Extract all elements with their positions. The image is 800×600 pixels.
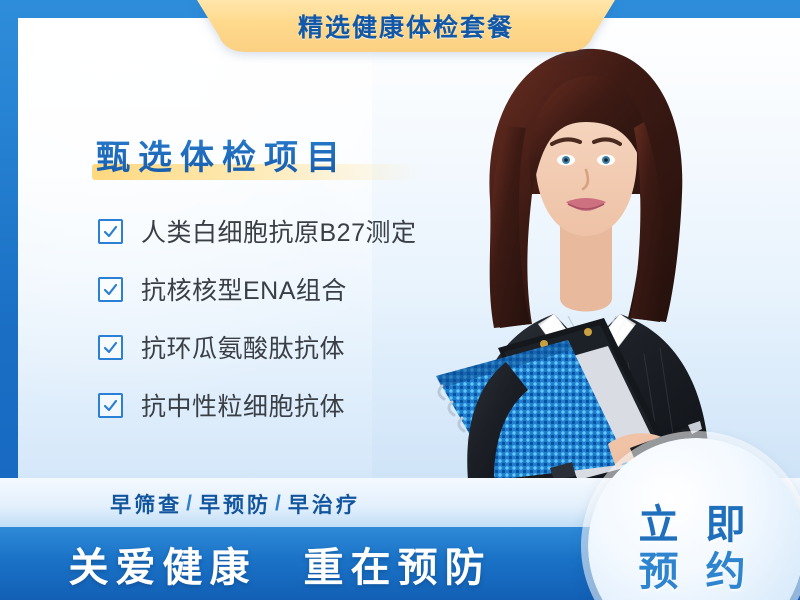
list-item[interactable]: 抗中性粒细胞抗体: [98, 386, 416, 424]
list-item-label: 抗环瓜氨酸肽抗体: [141, 329, 345, 365]
checkbox-checked-icon[interactable]: [98, 393, 123, 418]
checkbox-checked-icon[interactable]: [98, 277, 123, 302]
list-item[interactable]: 抗环瓜氨酸肽抗体: [98, 328, 416, 366]
checkbox-checked-icon[interactable]: [98, 219, 123, 244]
list-item[interactable]: 人类白细胞抗原B27测定: [98, 212, 416, 250]
cta-line-1: 立 即: [638, 502, 753, 549]
list-item[interactable]: 抗核核型ENA组合: [98, 270, 416, 308]
checkbox-checked-icon[interactable]: [98, 335, 123, 360]
slogan-text: 关爱健康 重在预防: [0, 527, 560, 600]
benefit-3: 早治疗: [288, 489, 360, 519]
page-title: 甄选体检项目: [96, 130, 348, 179]
heading-block: 甄选体检项目: [96, 130, 348, 179]
list-item-label: 人类白细胞抗原B27测定: [141, 213, 416, 249]
promo-banner: 精选健康体检套餐 甄选体检项目 人类白细胞抗原B27测定 抗核核型ENA组合 抗…: [0, 0, 800, 600]
checklist: 人类白细胞抗原B27测定 抗核核型ENA组合 抗环瓜氨酸肽抗体 抗中性粒细胞抗体: [98, 212, 416, 444]
benefits-strip-text: 早筛查 / 早预防 / 早治疗: [0, 478, 470, 530]
ribbon-label: 精选健康体检套餐: [197, 0, 615, 52]
list-item-label: 抗中性粒细胞抗体: [141, 387, 345, 423]
cta-line-2: 预 约: [638, 549, 753, 596]
list-item-label: 抗核核型ENA组合: [141, 271, 347, 307]
benefit-2: 早预防: [199, 489, 271, 519]
benefit-1: 早筛查: [110, 489, 182, 519]
ribbon-banner: 精选健康体检套餐: [197, 0, 615, 56]
businesswoman-photo: [372, 18, 800, 480]
separator-2: /: [275, 492, 284, 516]
separator-1: /: [186, 492, 195, 516]
